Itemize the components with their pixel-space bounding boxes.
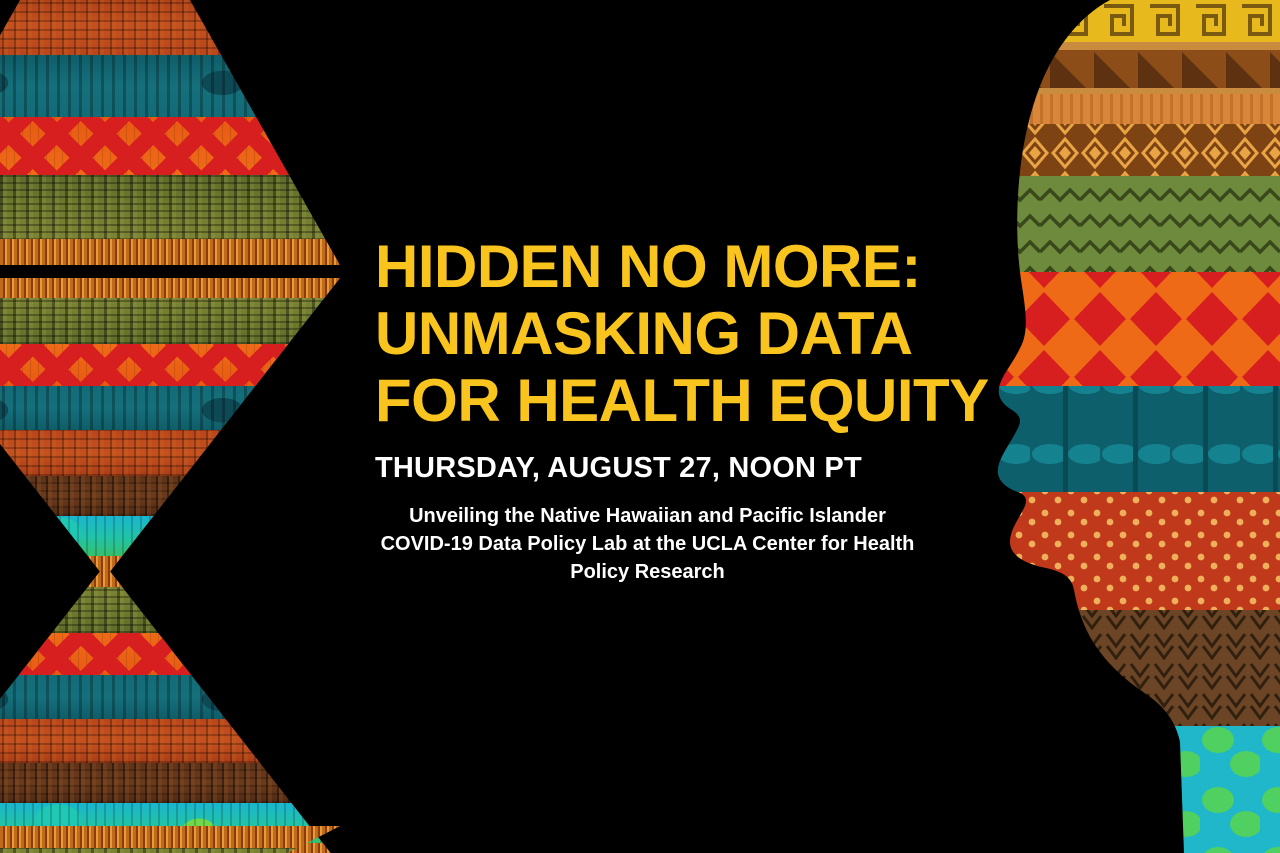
- band-triangle: [960, 42, 1280, 94]
- band-red-diamond: [960, 272, 1280, 386]
- pattern-triangle-down-2: [0, 278, 340, 578]
- poster-canvas: HIDDEN NO MORE: UNMASKING DATA FOR HEALT…: [0, 0, 1280, 853]
- left-textile-pattern-panel: [0, 0, 340, 853]
- band-teal-leaf: [960, 386, 1280, 492]
- band-cyan-green: [960, 726, 1280, 853]
- pattern-triangle-up-3: [0, 565, 340, 853]
- band-red-dot: [960, 492, 1280, 610]
- page-title: HIDDEN NO MORE: UNMASKING DATA FOR HEALT…: [375, 233, 1015, 434]
- event-datetime: THURSDAY, AUGUST 27, NOON PT: [375, 451, 1015, 485]
- pattern-triangle-down-4: [0, 826, 340, 853]
- band-brown-glyph: [960, 610, 1280, 726]
- band-orange-plain: [960, 94, 1280, 124]
- band-green-zigzag: [960, 176, 1280, 272]
- text-block: HIDDEN NO MORE: UNMASKING DATA FOR HEALT…: [375, 233, 1015, 586]
- face-pattern-bands: [960, 0, 1280, 853]
- band-diamond-lattice: [960, 124, 1280, 176]
- pattern-triangle-up-1: [0, 0, 340, 265]
- band-maze-key: [960, 0, 1280, 42]
- event-description: Unveiling the Native Hawaiian and Pacifi…: [375, 502, 920, 586]
- face-profile-figure: [960, 0, 1280, 853]
